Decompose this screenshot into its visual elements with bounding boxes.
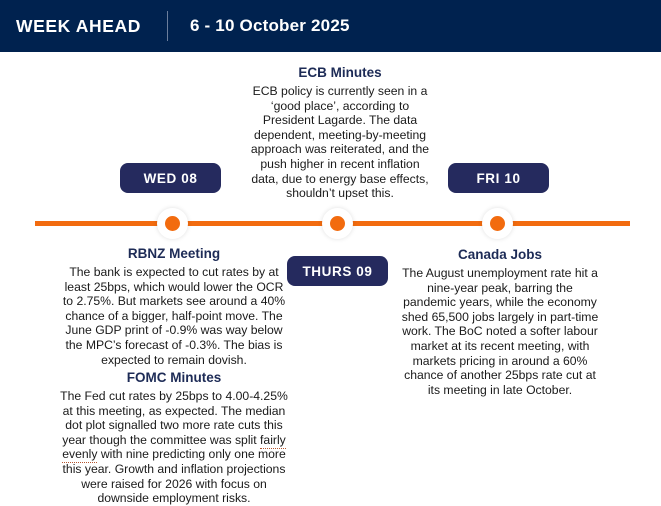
- event-body-segment: with nine predicting only one more this …: [63, 447, 286, 505]
- day-pill-wed[interactable]: WED 08: [120, 163, 221, 193]
- event-body: ECB policy is currently seen in a ‘good …: [250, 84, 430, 201]
- event-body: The August unemployment rate hit a nine-…: [400, 266, 600, 397]
- event-title: ECB Minutes: [250, 64, 430, 81]
- header-date-range: 6 - 10 October 2025: [190, 16, 350, 36]
- event-title: Canada Jobs: [400, 246, 600, 263]
- event-fomc-minutes: FOMC Minutes The Fed cut rates by 25bps …: [58, 369, 290, 506]
- timeline-dot-fri: [482, 208, 513, 239]
- page-header: WEEK AHEAD 6 - 10 October 2025: [0, 0, 661, 52]
- spellcheck-flagged-word: fairly: [260, 433, 286, 449]
- event-body: The bank is expected to cut rates by at …: [58, 265, 290, 367]
- event-rbnz-meeting: RBNZ Meeting The bank is expected to cut…: [58, 245, 290, 367]
- event-ecb-minutes: ECB Minutes ECB policy is currently seen…: [250, 64, 430, 201]
- event-body: The Fed cut rates by 25bps to 4.00-4.25%…: [58, 389, 290, 506]
- event-body-segment: The Fed cut rates by 25bps to 4.00-4.25%…: [60, 389, 288, 447]
- event-title: FOMC Minutes: [58, 369, 290, 386]
- day-pill-thurs[interactable]: THURS 09: [287, 256, 388, 286]
- timeline-dot-thurs: [322, 208, 353, 239]
- event-title: RBNZ Meeting: [58, 245, 290, 262]
- page-title: WEEK AHEAD: [16, 16, 141, 37]
- spellcheck-flagged-word: evenly: [62, 447, 97, 463]
- header-divider: [167, 11, 168, 41]
- day-pill-fri[interactable]: FRI 10: [448, 163, 549, 193]
- timeline-dot-wed: [157, 208, 188, 239]
- event-canada-jobs: Canada Jobs The August unemployment rate…: [400, 246, 600, 397]
